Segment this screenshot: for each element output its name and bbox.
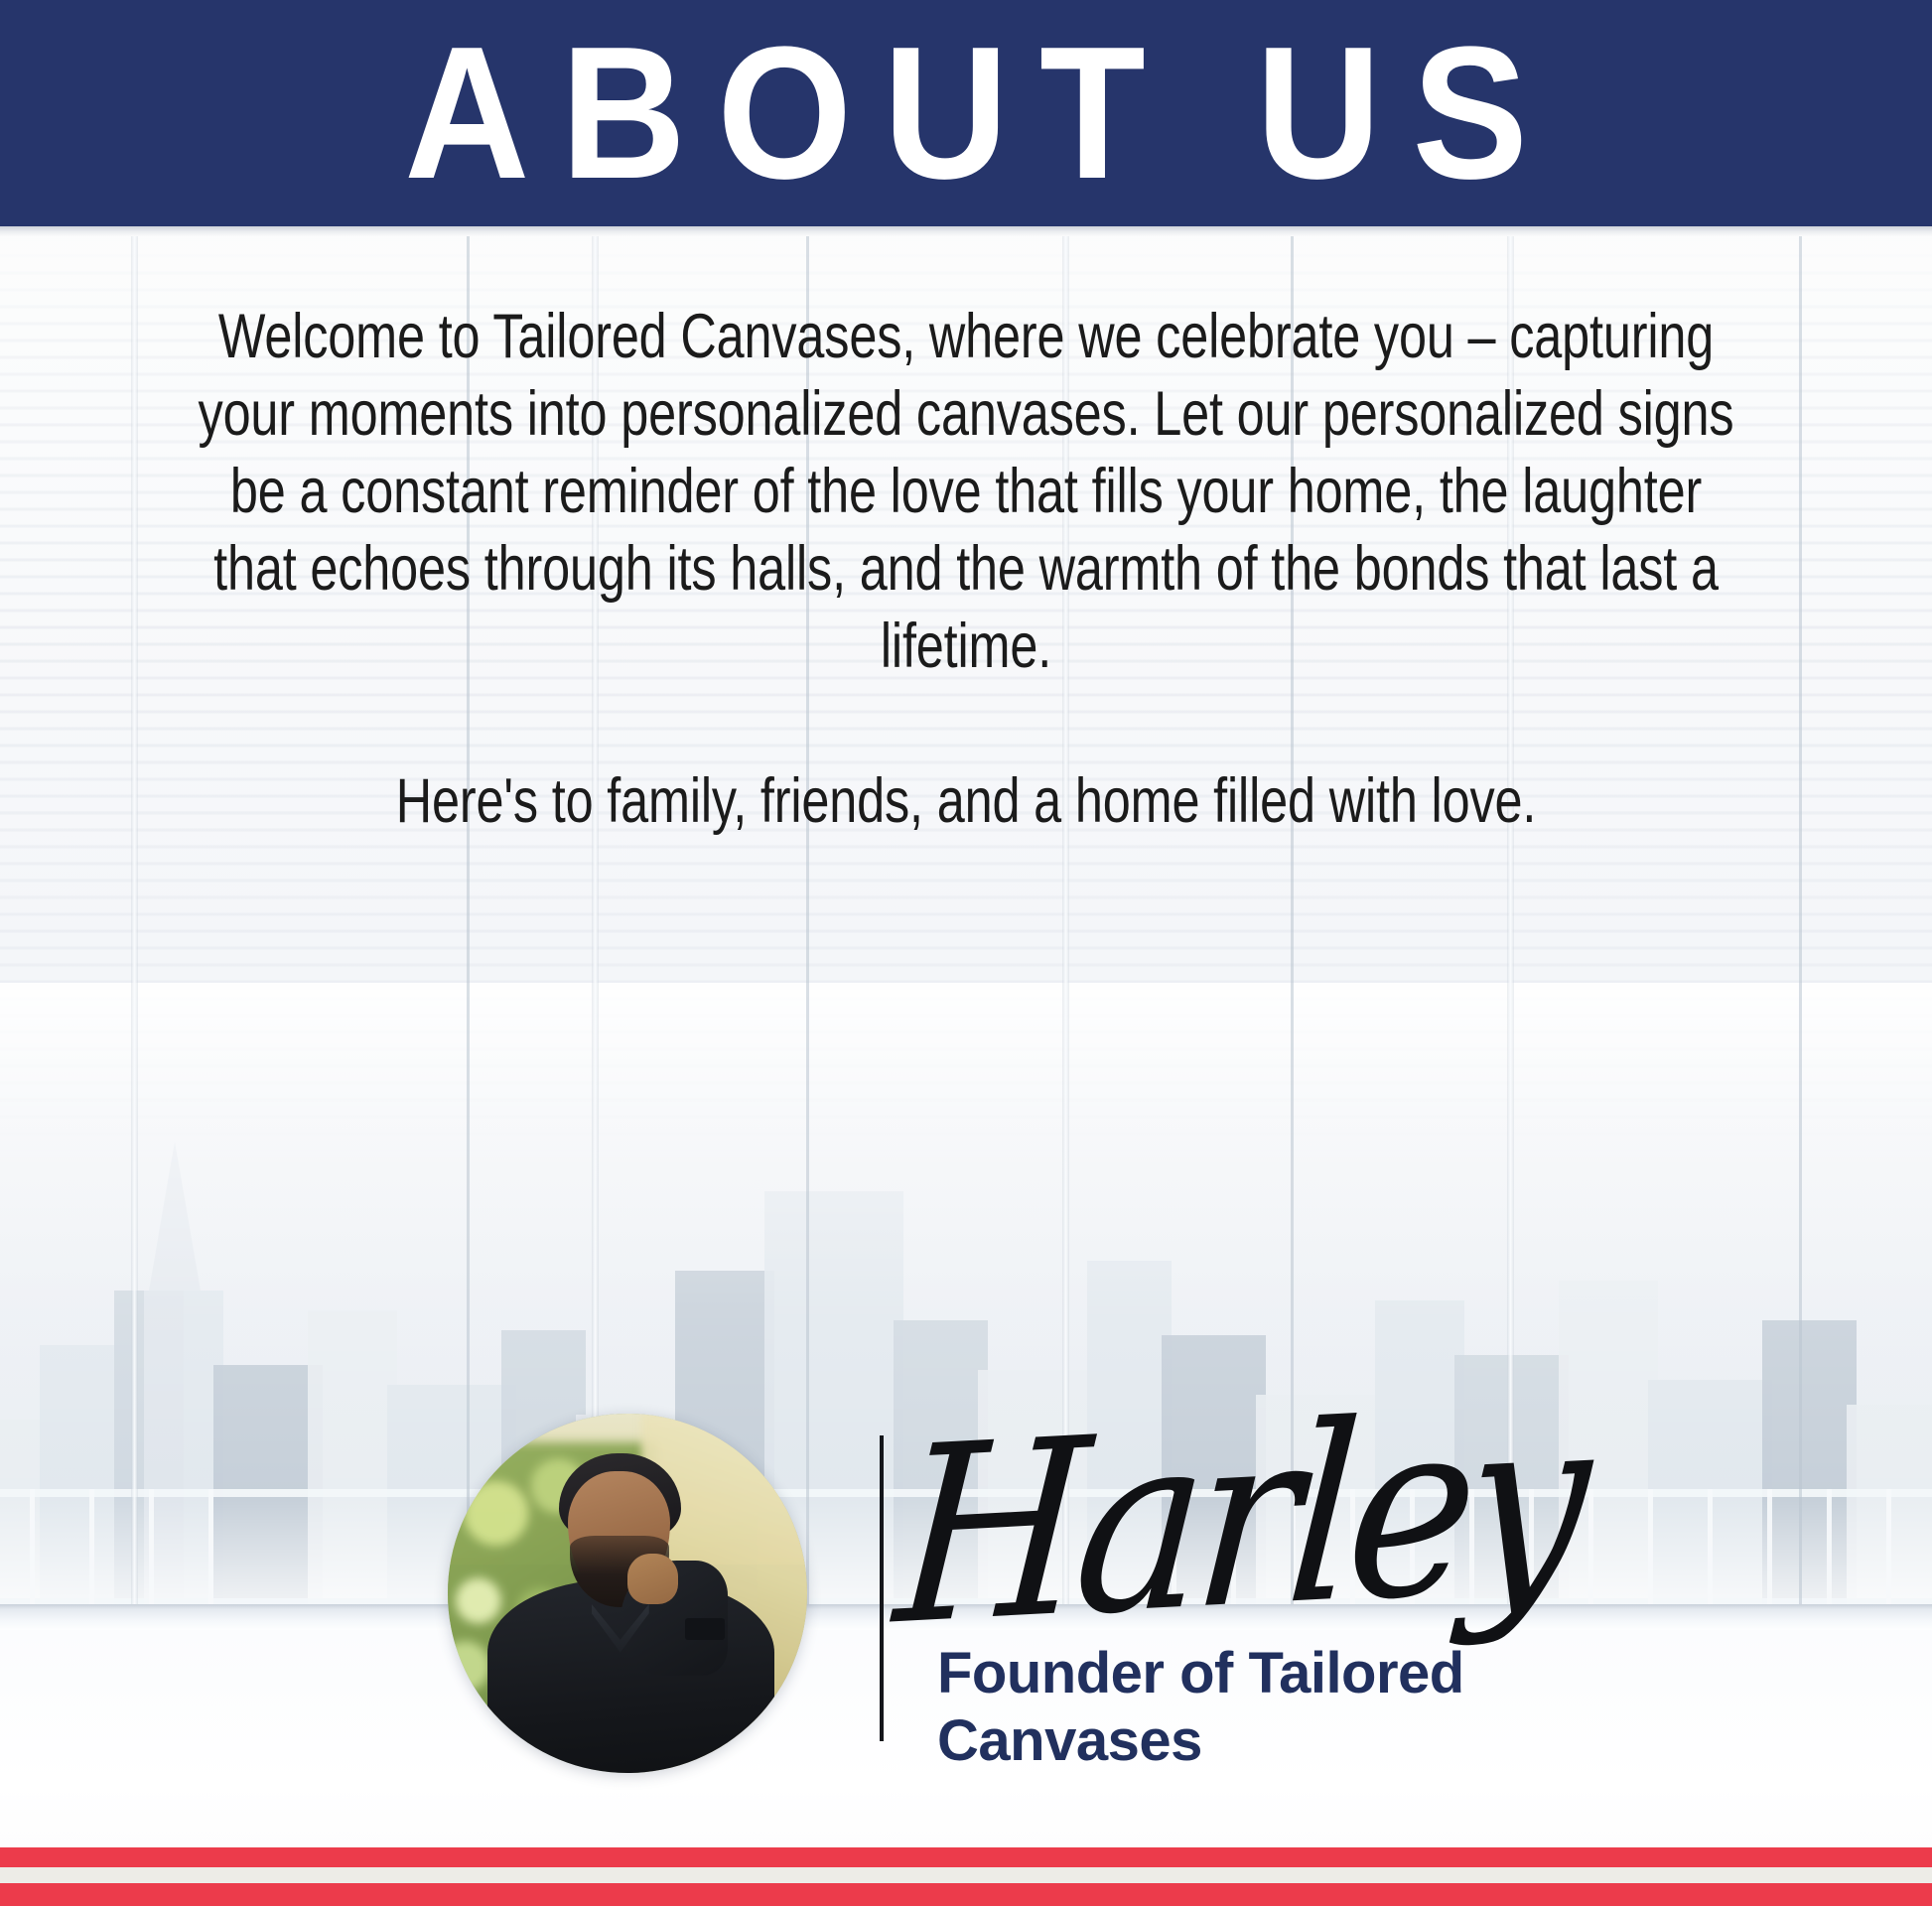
about-us-copy: Welcome to Tailored Canvases, where we c… [0, 298, 1932, 840]
about-us-header-banner: ABOUT US [0, 0, 1932, 226]
role-line-1: Founder of Tailored [937, 1640, 1672, 1707]
signature-divider [880, 1435, 884, 1741]
founder-role-text: Founder of Tailored Canvases [937, 1640, 1672, 1775]
footer-bar-gap [0, 1867, 1932, 1883]
paragraph-1: Welcome to Tailored Canvases, where we c… [194, 298, 1739, 685]
footer-red-bar-bottom [0, 1883, 1932, 1906]
avatar-hand [627, 1554, 678, 1604]
footer-red-bar-top [0, 1847, 1932, 1867]
page-title: ABOUT US [373, 19, 1559, 207]
role-line-2: Canvases [937, 1707, 1672, 1775]
paragraph-2: Here's to family, friends, and a home fi… [194, 762, 1739, 840]
avatar [448, 1414, 807, 1773]
paragraph-spacer [0, 685, 1932, 762]
header-bottom-edge [0, 226, 1932, 236]
avatar-watch [685, 1618, 725, 1640]
